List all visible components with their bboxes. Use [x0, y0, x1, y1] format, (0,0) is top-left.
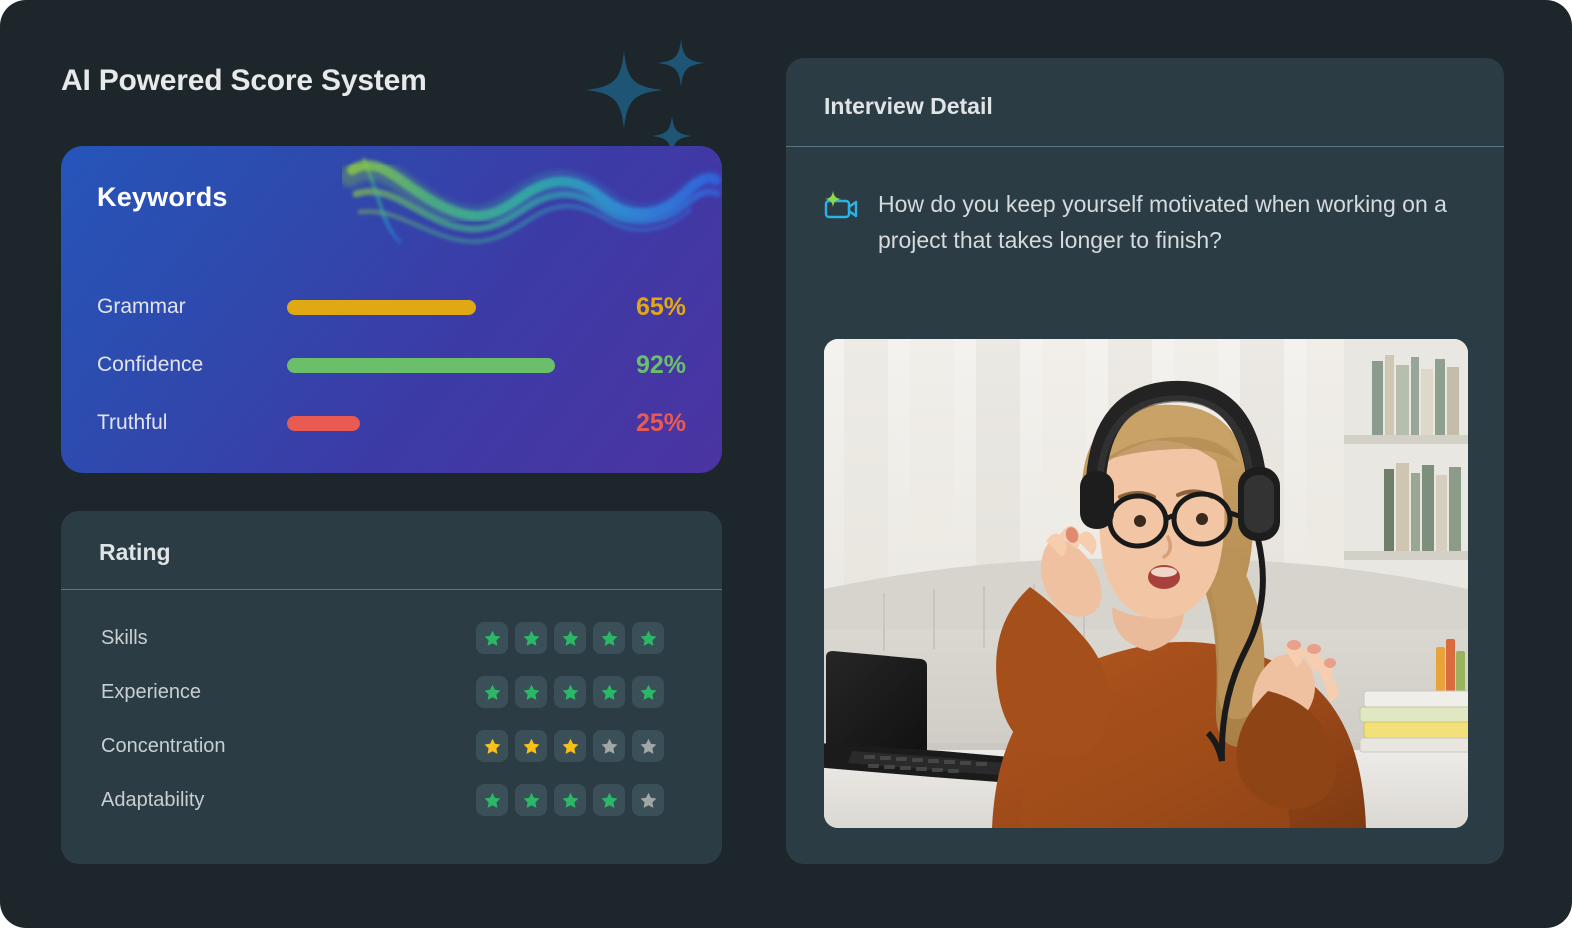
keywords-title: Keywords	[97, 182, 228, 213]
rating-row-skills: Skills	[61, 611, 722, 665]
star-rating-group[interactable]	[476, 730, 664, 762]
star-filled-icon[interactable]	[593, 784, 625, 816]
interview-photo	[824, 339, 1468, 828]
keyword-progress-fill	[287, 358, 555, 373]
keyword-row-grammar: Grammar 65%	[61, 278, 722, 336]
star-rating-group[interactable]	[476, 622, 664, 654]
star-rating-group[interactable]	[476, 676, 664, 708]
page-title: AI Powered Score System	[61, 64, 427, 98]
star-filled-icon[interactable]	[632, 622, 664, 654]
star-filled-icon[interactable]	[515, 730, 547, 762]
keyword-progress-fill	[287, 300, 476, 315]
sparkle-decoration-icon	[580, 28, 720, 158]
star-filled-icon[interactable]	[593, 622, 625, 654]
keyword-progress-fill	[287, 416, 360, 431]
rating-label: Adaptability	[101, 789, 476, 812]
rating-label: Concentration	[101, 735, 476, 758]
star-filled-icon[interactable]	[476, 676, 508, 708]
star-filled-icon[interactable]	[554, 676, 586, 708]
app-root: AI Powered Score System	[0, 0, 1572, 928]
keyword-row-confidence: Confidence 92%	[61, 336, 722, 394]
keyword-percent: 65%	[604, 293, 686, 322]
star-filled-icon[interactable]	[593, 676, 625, 708]
interview-question-text: How do you keep yourself motivated when …	[878, 186, 1478, 258]
star-empty-icon[interactable]	[632, 784, 664, 816]
rating-row-adaptability: Adaptability	[61, 773, 722, 827]
rating-label: Skills	[101, 627, 476, 650]
keyword-row-truthful: Truthful 25%	[61, 394, 722, 452]
rating-title: Rating	[99, 539, 171, 566]
star-filled-icon[interactable]	[476, 622, 508, 654]
keyword-progress-track	[287, 300, 578, 315]
interview-detail-card: Interview Detail How do you keep yoursel…	[786, 58, 1504, 864]
keyword-label: Confidence	[97, 353, 287, 377]
star-empty-icon[interactable]	[593, 730, 625, 762]
star-filled-icon[interactable]	[632, 676, 664, 708]
keyword-progress-track	[287, 416, 578, 431]
keyword-progress-track	[287, 358, 578, 373]
star-filled-icon[interactable]	[515, 784, 547, 816]
star-filled-icon[interactable]	[554, 622, 586, 654]
star-filled-icon[interactable]	[554, 784, 586, 816]
rating-row-concentration: Concentration	[61, 719, 722, 773]
star-filled-icon[interactable]	[515, 622, 547, 654]
star-filled-icon[interactable]	[476, 730, 508, 762]
interview-detail-title: Interview Detail	[824, 93, 993, 120]
star-rating-group[interactable]	[476, 784, 664, 816]
star-filled-icon[interactable]	[515, 676, 547, 708]
ai-video-camera-icon	[822, 190, 860, 229]
rating-rows: SkillsExperienceConcentrationAdaptabilit…	[61, 611, 722, 827]
interview-detail-divider	[786, 146, 1504, 147]
rating-divider	[61, 589, 722, 590]
keyword-percent: 92%	[604, 351, 686, 380]
rating-card: Rating SkillsExperienceConcentrationAdap…	[61, 511, 722, 864]
rating-row-experience: Experience	[61, 665, 722, 719]
rating-label: Experience	[101, 681, 476, 704]
star-filled-icon[interactable]	[554, 730, 586, 762]
star-empty-icon[interactable]	[632, 730, 664, 762]
keyword-label: Grammar	[97, 295, 287, 319]
score-system-panel: AI Powered Score System	[0, 0, 762, 928]
particle-wave-decoration-icon	[342, 148, 722, 273]
keywords-card: Keywords Grammar 65% Confidence 92%	[61, 146, 722, 473]
keywords-rows: Grammar 65% Confidence 92% Truthful	[61, 278, 722, 452]
keyword-percent: 25%	[604, 409, 686, 438]
star-filled-icon[interactable]	[476, 784, 508, 816]
interview-question-block: How do you keep yourself motivated when …	[822, 186, 1484, 258]
keyword-label: Truthful	[97, 411, 287, 435]
